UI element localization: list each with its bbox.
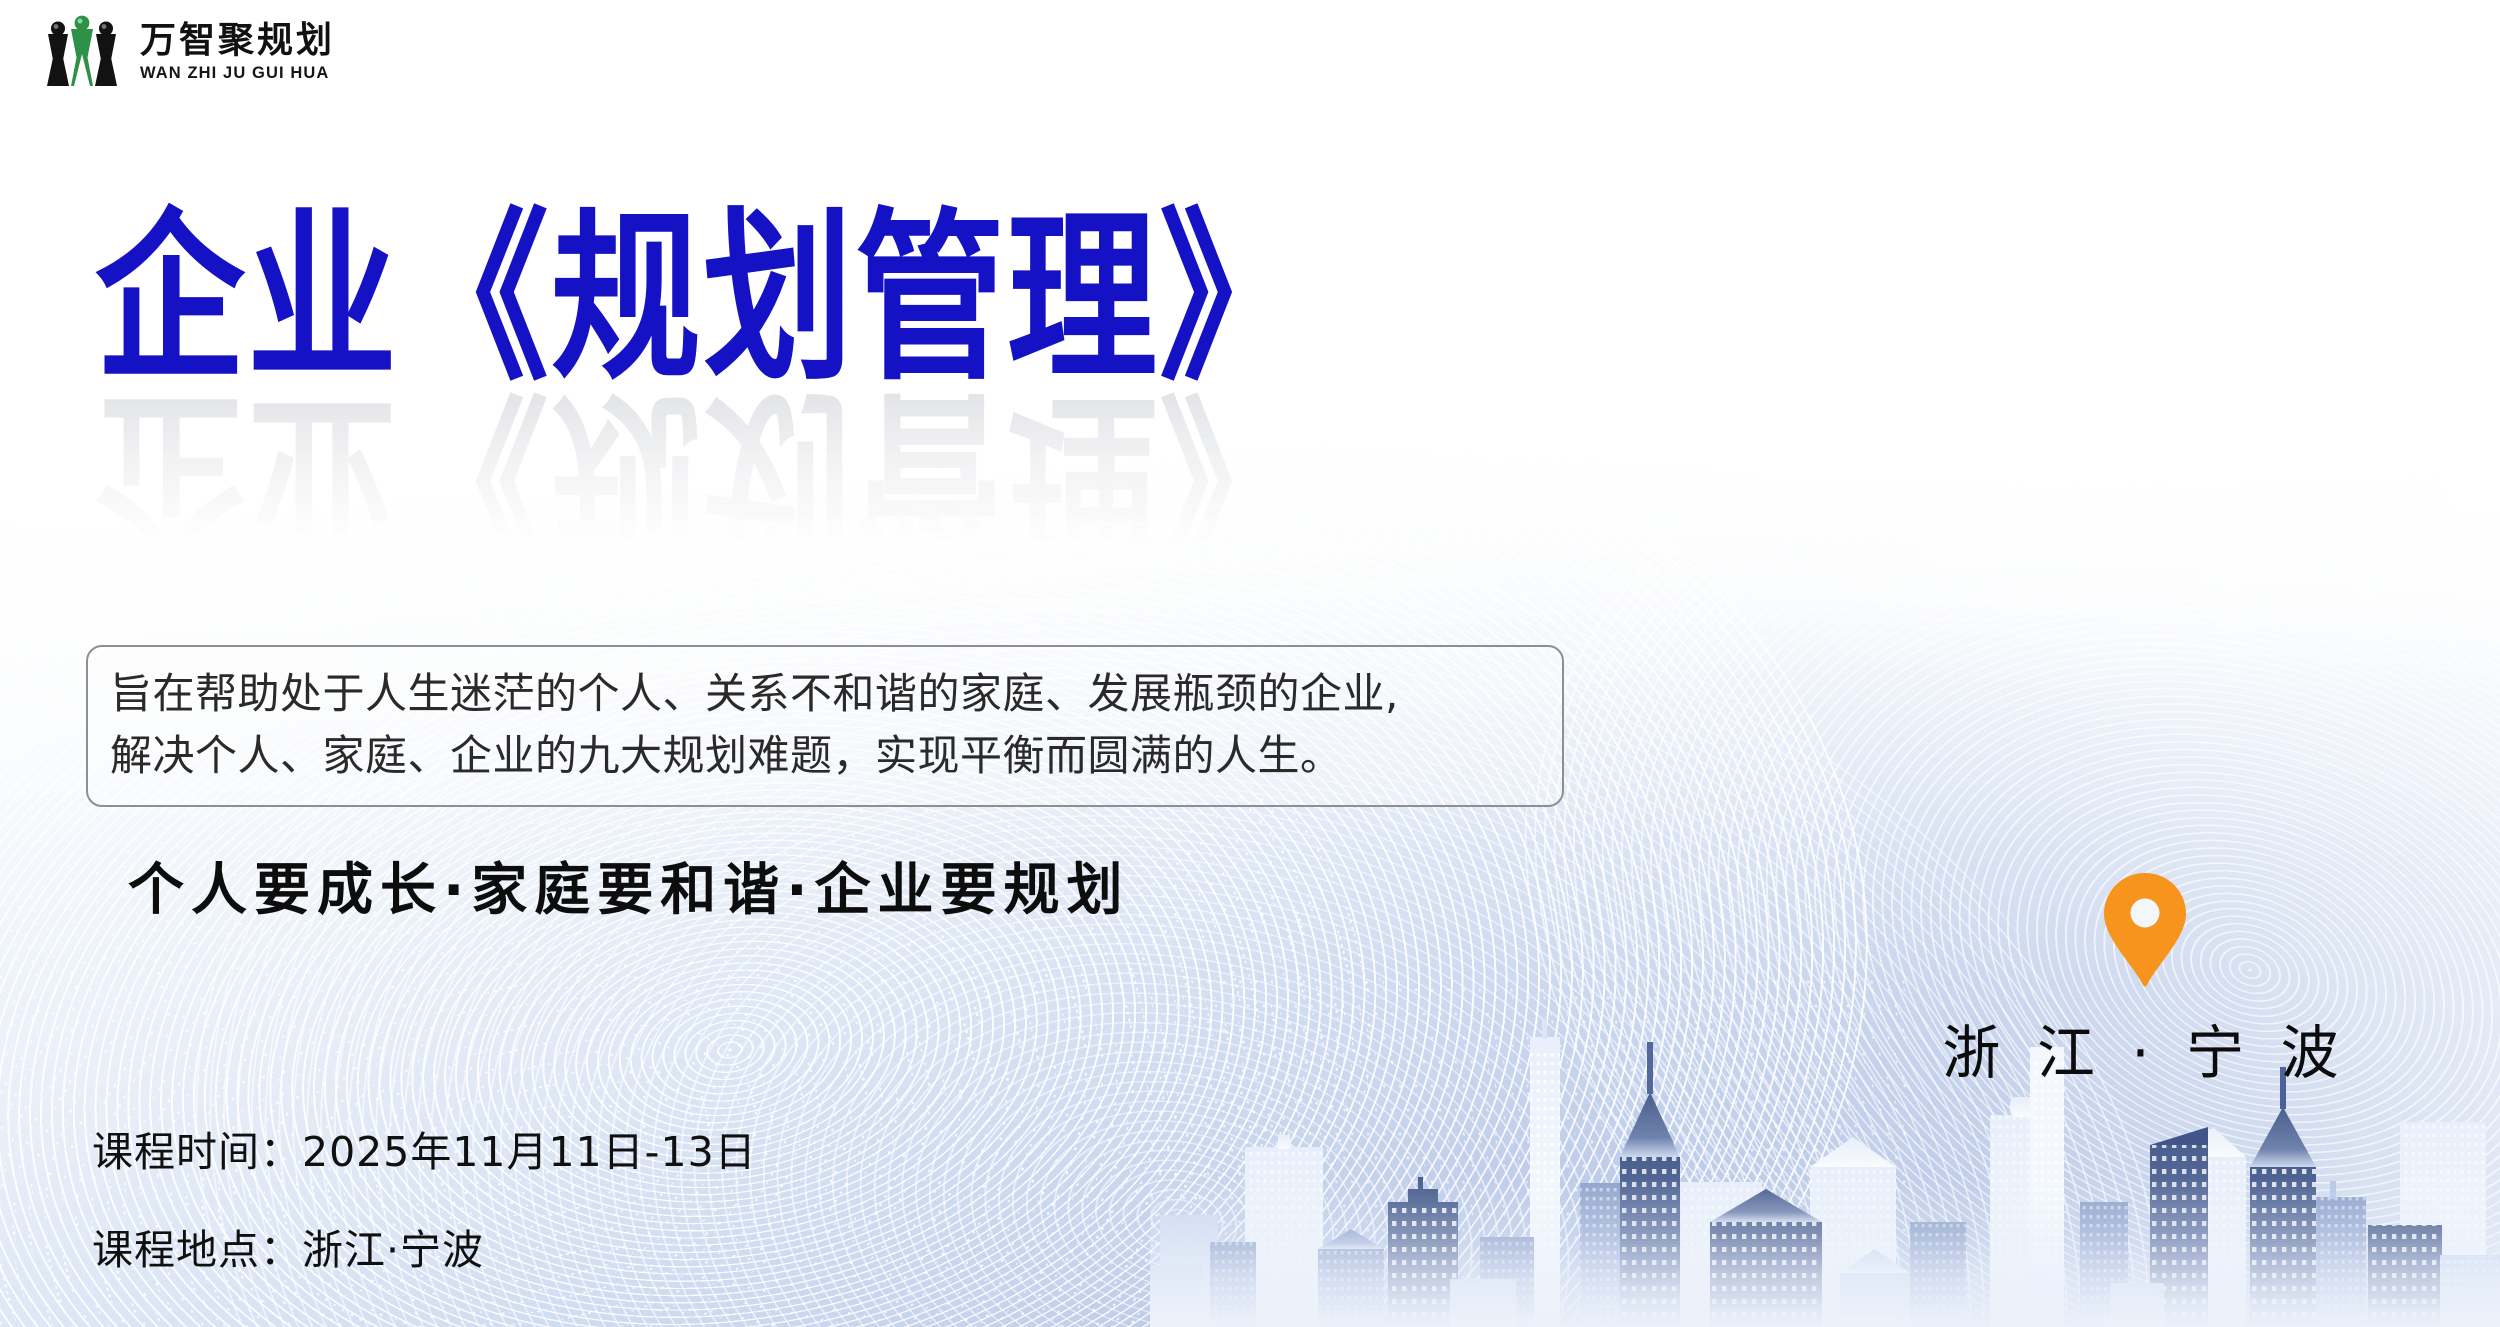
description-box: 旨在帮助处于人生迷茫的个人、关系不和谐的家庭、发展瓶颈的企业, 解决个人、家庭、… [86, 645, 1564, 807]
map-pin-icon [2100, 870, 2190, 990]
description-line-2: 解决个人、家庭、企业的九大规划难题，实现平衡而圆满的人生。 [110, 725, 1540, 787]
course-time: 课程时间：2025年11月11日-13日 [92, 1118, 757, 1178]
three-people-m-logo-icon [38, 14, 126, 90]
brand-text: 万智聚规划 WAN ZHI JU GUI HUA [140, 22, 335, 82]
brand-name-pinyin: WAN ZHI JU GUI HUA [140, 65, 335, 82]
tagline: 个人要成长·家庭要和谐·企业要规划 [128, 845, 1130, 926]
brand-logo[interactable]: 万智聚规划 WAN ZHI JU GUI HUA [38, 14, 335, 90]
course-info: 课程时间：2025年11月11日-13日 课程地点：浙江·宁波 [92, 1118, 757, 1276]
brand-name-cn: 万智聚规划 [140, 22, 335, 58]
course-place: 课程地点：浙江·宁波 [92, 1216, 757, 1276]
location-block: 浙 江 · 宁 波 [1955, 870, 2335, 1090]
hero-title-block: 企业《规划管理》 企业《规划管理》 [95, 192, 1655, 546]
location-city: 浙 江 · 宁 波 [1942, 1006, 2347, 1090]
description-line-1: 旨在帮助处于人生迷茫的个人、关系不和谐的家庭、发展瓶颈的企业, [110, 663, 1540, 725]
page-title-reflection: 企业《规划管理》 [95, 365, 1655, 581]
poster-canvas: 万智聚规划 WAN ZHI JU GUI HUA 企业《规划管理》 企业《规划管… [0, 0, 2500, 1327]
